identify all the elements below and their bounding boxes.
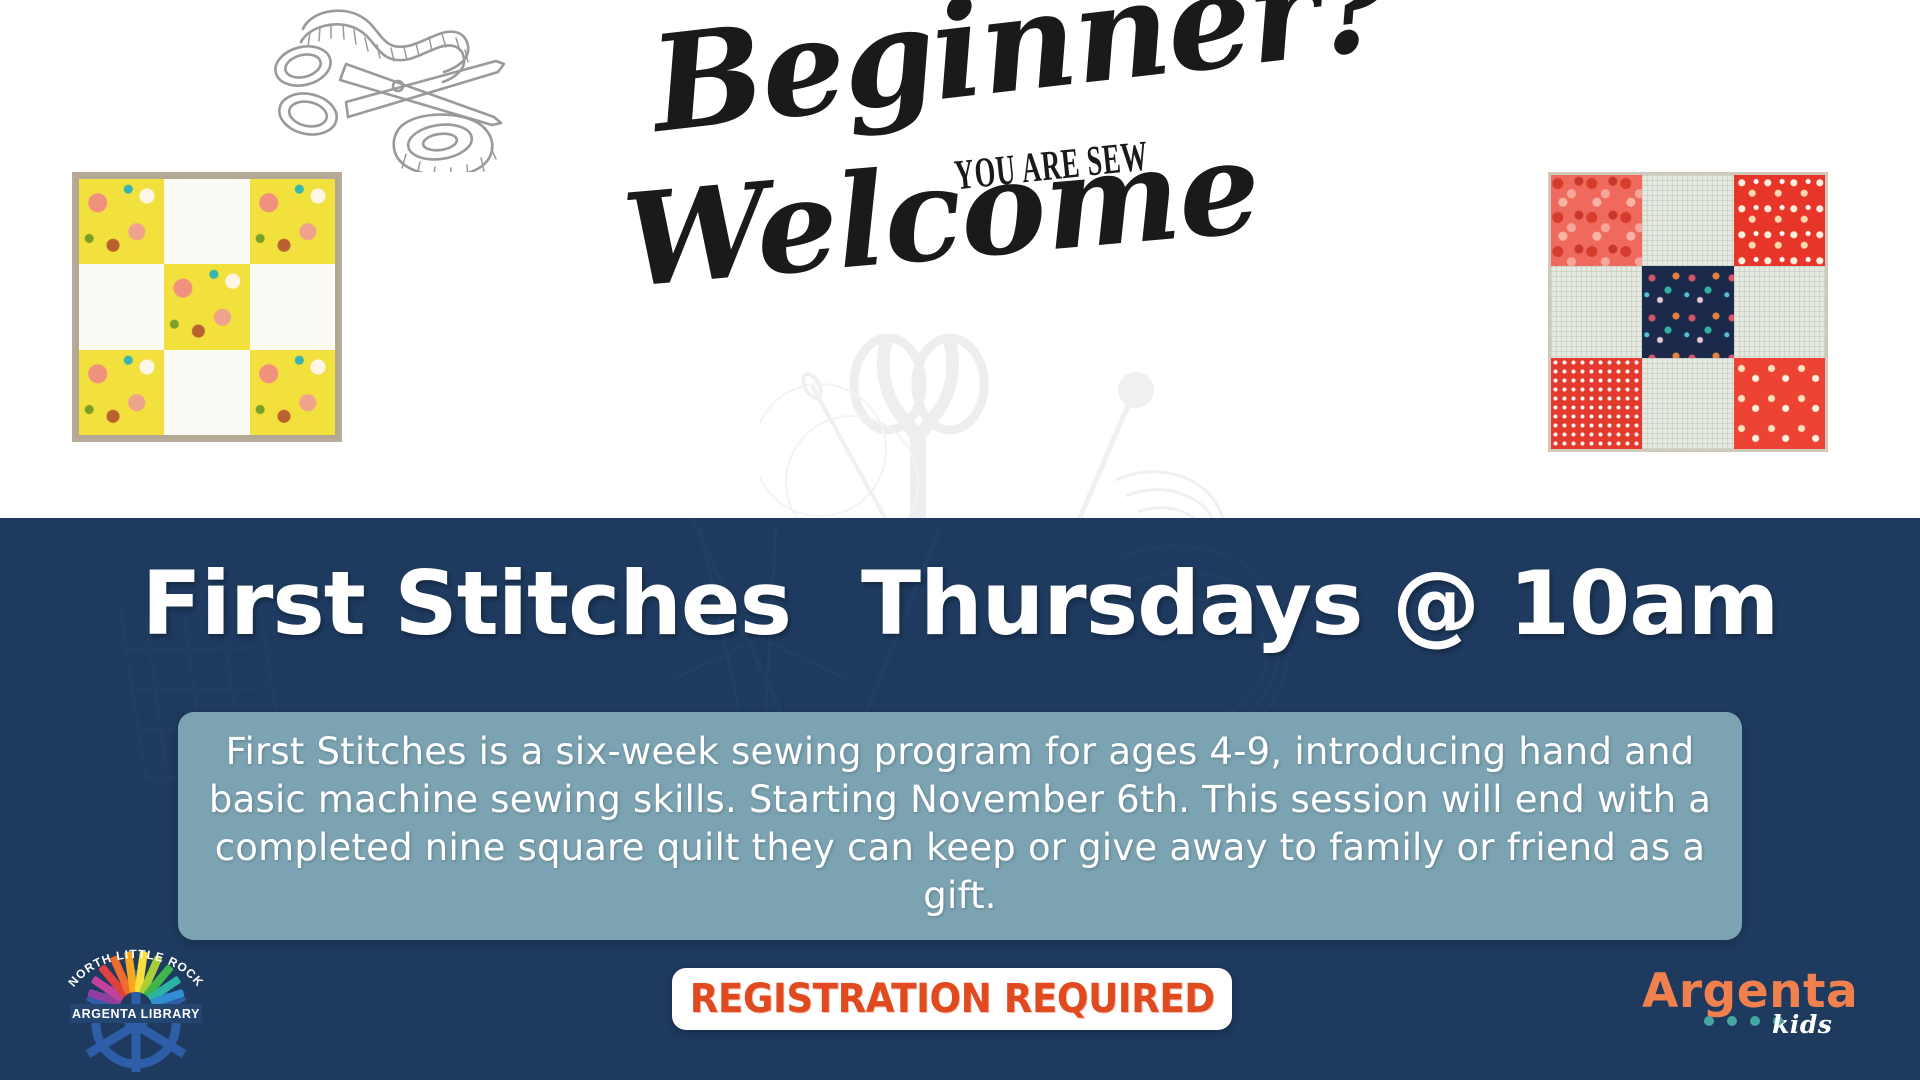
quilt-cell (1734, 175, 1825, 266)
quilt-cell (250, 264, 335, 349)
headline-row: First Stitches Thursdays @ 10am (0, 560, 1920, 648)
argenta-dot (1727, 1016, 1737, 1026)
quilt-cell (164, 179, 249, 264)
scissors-measuring-tape-icon (248, 2, 533, 172)
quilt-cell (79, 350, 164, 435)
program-title: First Stitches (142, 560, 791, 648)
poster-canvas: Beginner? YOU ARE SEW Welcome (0, 0, 1920, 1080)
library-banner-text: ARGENTA LIBRARY (72, 1007, 200, 1021)
argenta-dot (1750, 1016, 1760, 1026)
registration-required-badge[interactable]: REGISTRATION REQUIRED (672, 968, 1232, 1030)
description-box: First Stitches is a six-week sewing prog… (178, 712, 1742, 940)
quilt-cell (1642, 358, 1733, 449)
argenta-kids-logo: Argenta kids (1642, 968, 1852, 1048)
schedule-title: Thursdays @ 10am (861, 560, 1778, 648)
argenta-dot (1704, 1016, 1714, 1026)
quilt-cell (250, 179, 335, 264)
hero-section: Beginner? YOU ARE SEW Welcome (0, 0, 1920, 518)
hero-title-group: Beginner? YOU ARE SEW Welcome (620, 10, 1340, 390)
quilt-cell (164, 350, 249, 435)
quilt-cell (1734, 266, 1825, 357)
argenta-wordmark: Argenta (1642, 968, 1858, 1015)
quilt-cell (1551, 175, 1642, 266)
quilt-cell (1642, 175, 1733, 266)
nine-patch-quilt-block-yellow (72, 172, 342, 442)
registration-required-label: REGISTRATION REQUIRED (690, 976, 1215, 1022)
quilt-cell (79, 264, 164, 349)
description-text: First Stitches is a six-week sewing prog… (204, 728, 1716, 920)
quilt-cell (164, 264, 249, 349)
nine-patch-quilt-block-red (1548, 172, 1828, 452)
quilt-cell (1734, 358, 1825, 449)
quilt-cell (1551, 266, 1642, 357)
quilt-cell (79, 179, 164, 264)
quilt-cell (1551, 358, 1642, 449)
north-little-rock-argenta-library-logo: NORTH LITTLE ROCK ARGENTA LIBRARY (52, 946, 220, 1072)
hero-line-beginner: Beginner? (645, 0, 1398, 152)
argenta-kids-sublabel: kids (1772, 1010, 1832, 1039)
quilt-cell (1642, 266, 1733, 357)
quilt-cell (250, 350, 335, 435)
